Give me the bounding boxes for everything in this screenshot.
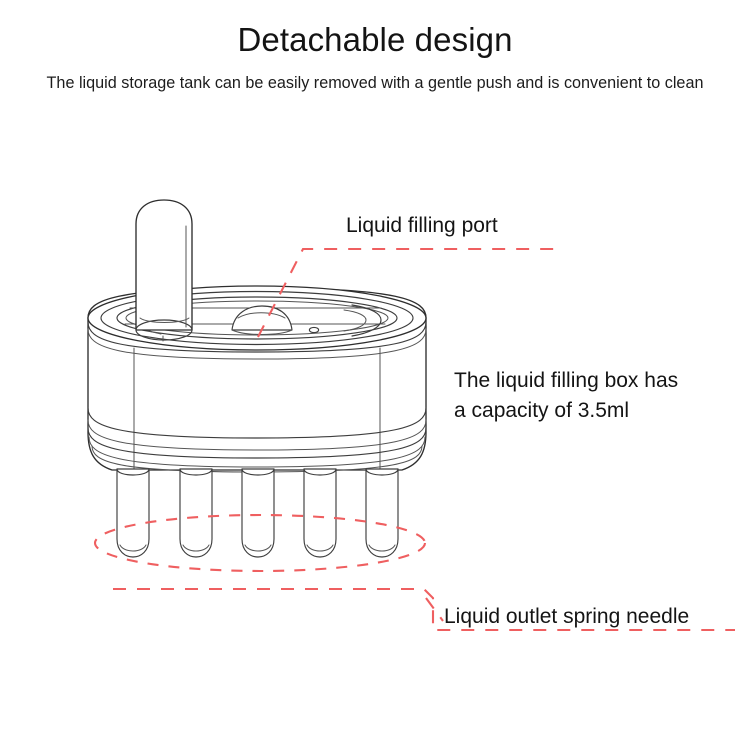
annotation-capacity-line-2: a capacity of 3.5ml xyxy=(454,396,706,426)
annotation-liquid-filling-port: Liquid filling port xyxy=(346,211,498,241)
annotation-capacity: The liquid filling box has a capacity of… xyxy=(454,366,706,426)
spring-pin xyxy=(242,469,274,557)
annotation-capacity-line-1: The liquid filling box has xyxy=(454,366,706,396)
spring-pins xyxy=(117,469,398,557)
spring-pin xyxy=(366,469,398,557)
product-infographic-page: Detachable design The liquid storage tan… xyxy=(0,0,750,750)
spring-pin xyxy=(117,469,149,557)
filling-tube xyxy=(136,200,192,341)
spring-pin xyxy=(304,469,336,557)
annotation-liquid-outlet-spring-needle: Liquid outlet spring needle xyxy=(444,602,689,632)
spring-pin xyxy=(180,469,212,557)
